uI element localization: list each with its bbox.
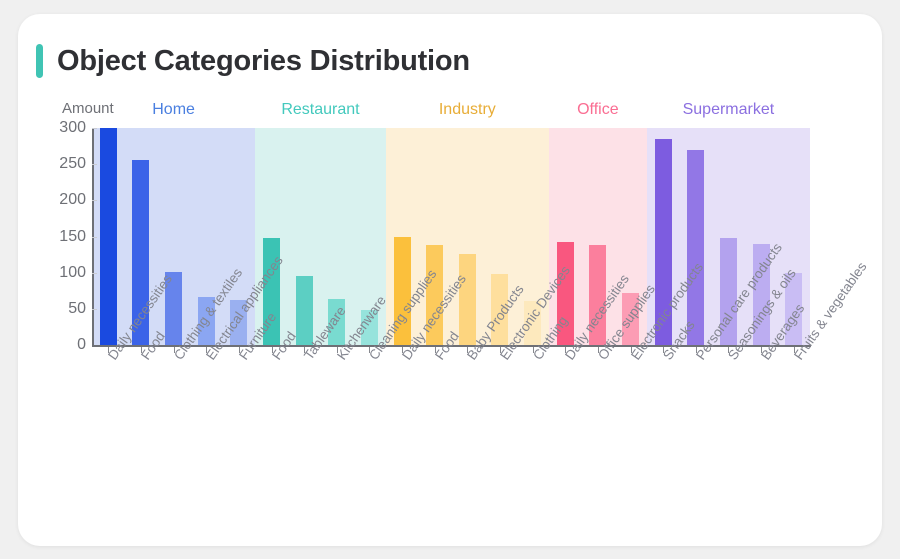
y-axis-ticks: 050100150200250300 <box>44 128 86 345</box>
y-axis-tick <box>92 128 97 129</box>
bar[interactable] <box>459 254 476 345</box>
y-axis-line <box>92 128 94 347</box>
bar[interactable] <box>296 276 313 345</box>
group-label-restaurant: Restaurant <box>281 101 359 119</box>
group-label-home: Home <box>152 101 195 119</box>
group-label-industry: Industry <box>439 101 496 119</box>
chart-card: Object Categories Distribution Amount 05… <box>18 14 882 546</box>
bar-chart: Amount 050100150200250300 HomeRestaurant… <box>18 14 882 546</box>
y-axis-tick-label: 0 <box>77 336 86 354</box>
y-axis-tick <box>92 273 97 274</box>
bar[interactable] <box>100 128 117 345</box>
y-axis-tick-label: 250 <box>59 155 86 173</box>
bar[interactable] <box>687 150 704 345</box>
y-axis-tick <box>92 309 97 310</box>
y-axis-tick <box>92 164 97 165</box>
y-axis-tick-label: 100 <box>59 264 86 282</box>
y-axis-tick <box>92 237 97 238</box>
y-axis-tick-label: 150 <box>59 228 86 246</box>
y-axis-tick-label: 50 <box>68 300 86 318</box>
y-axis-tick-label: 300 <box>59 119 86 137</box>
y-axis-tick <box>92 200 97 201</box>
group-label-office: Office <box>577 101 619 119</box>
y-axis-label: Amount <box>62 100 114 117</box>
group-label-supermarket: Supermarket <box>683 101 775 119</box>
y-axis-tick-label: 200 <box>59 191 86 209</box>
